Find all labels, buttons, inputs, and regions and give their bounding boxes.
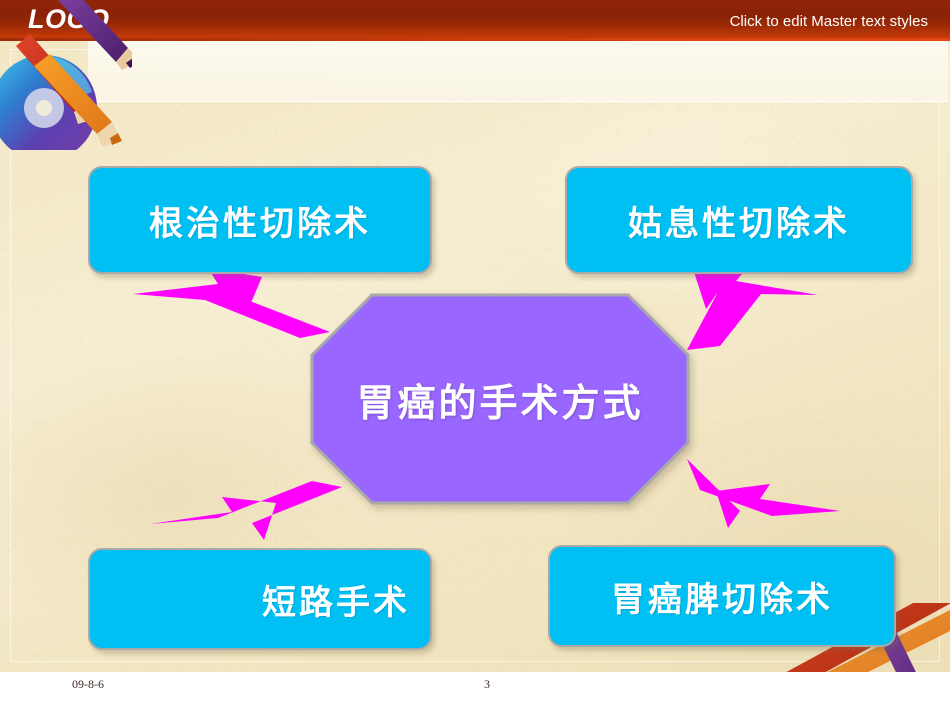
node-label-bottom-right: 胃癌脾切除术 <box>550 572 894 621</box>
node-label-top-right: 姑息性切除术 <box>567 196 911 245</box>
footer-page-number: 3 <box>484 677 490 692</box>
node-label-top-left: 根治性切除术 <box>90 196 430 245</box>
node-label-bottom-left: 短路手术 <box>90 575 430 624</box>
title-placeholder[interactable] <box>88 41 948 102</box>
footer-date: 09-8-6 <box>72 677 104 692</box>
node-box-bottom-left[interactable]: 短路手术 <box>88 548 432 650</box>
logo: LOGO <box>28 4 110 35</box>
slide-header-bar: LOGO Click to edit Master text styles <box>0 0 950 41</box>
node-box-bottom-right[interactable]: 胃癌脾切除术 <box>548 545 896 647</box>
node-box-top-right[interactable]: 姑息性切除术 <box>565 166 913 274</box>
slide-footer: 09-8-6 3 <box>0 672 950 713</box>
center-node-shape[interactable] <box>310 293 690 505</box>
node-box-top-left[interactable]: 根治性切除术 <box>88 166 432 274</box>
master-text-placeholder[interactable]: Click to edit Master text styles <box>730 13 928 30</box>
slide-canvas: LOGO Click to edit Master text styles <box>0 0 950 713</box>
